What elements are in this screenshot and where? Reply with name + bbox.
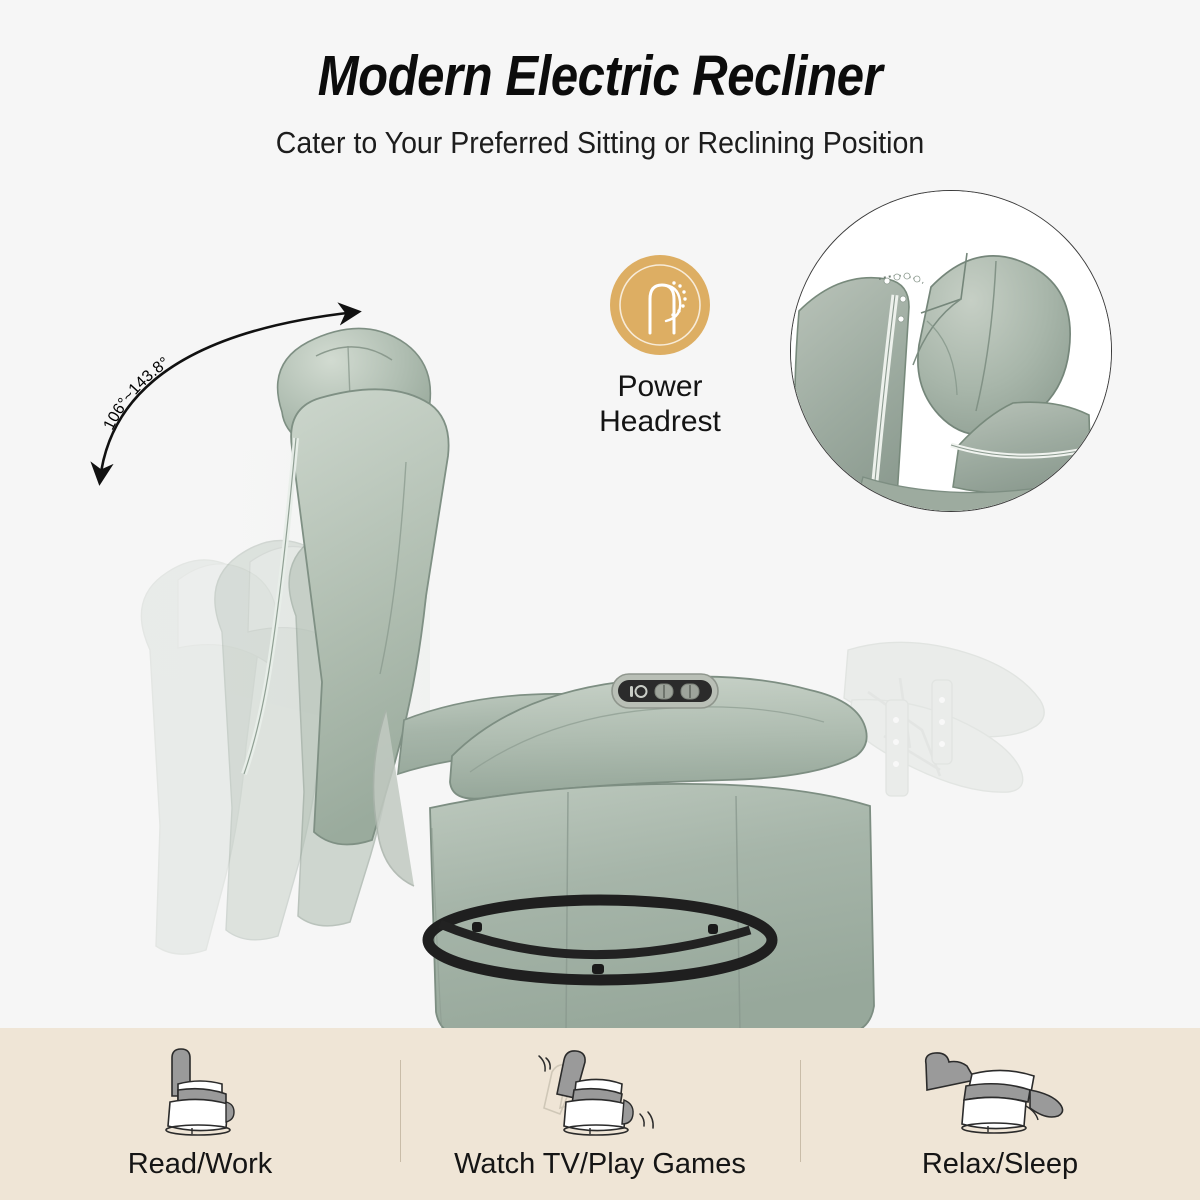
- feature-label: Watch TV/Play Games: [454, 1148, 746, 1181]
- power-headrest-feature: Power Headrest: [570, 255, 750, 439]
- page-subtitle: Cater to Your Preferred Sitting or Recli…: [48, 105, 1152, 158]
- feature-read-work: Read/Work: [0, 1028, 400, 1200]
- recliner-flat-icon: [920, 1042, 1080, 1142]
- power-headrest-label-line1: Power: [570, 369, 750, 404]
- usage-scenarios-bar: Read/Work: [0, 1028, 1200, 1200]
- power-icon: [630, 686, 633, 697]
- feature-watch-tv-play-games: Watch TV/Play Games: [400, 1028, 800, 1200]
- product-stage: 106°~143.8° Power Headrest: [0, 180, 1200, 1028]
- ghost-footrest: [844, 642, 1044, 796]
- page-title: Modern Electric Recliner: [84, 0, 1116, 105]
- recliner-upright-icon: [136, 1042, 264, 1142]
- recline-angle-annotation: 106°~143.8°: [60, 260, 400, 510]
- power-headrest-badge: [610, 255, 710, 355]
- header: Modern Electric Recliner Cater to Your P…: [0, 0, 1200, 180]
- angle-label-text: 106°~143.8°: [101, 354, 173, 433]
- headrest-closeup-inset: [790, 190, 1112, 512]
- feature-relax-sleep: Relax/Sleep: [800, 1028, 1200, 1200]
- power-headrest-label: Power Headrest: [570, 369, 750, 439]
- feature-label: Relax/Sleep: [922, 1148, 1078, 1181]
- power-headrest-label-line2: Headrest: [570, 404, 750, 439]
- recliner-reclined-icon: [524, 1042, 676, 1142]
- feature-label: Read/Work: [128, 1148, 273, 1181]
- control-panel[interactable]: [612, 674, 718, 708]
